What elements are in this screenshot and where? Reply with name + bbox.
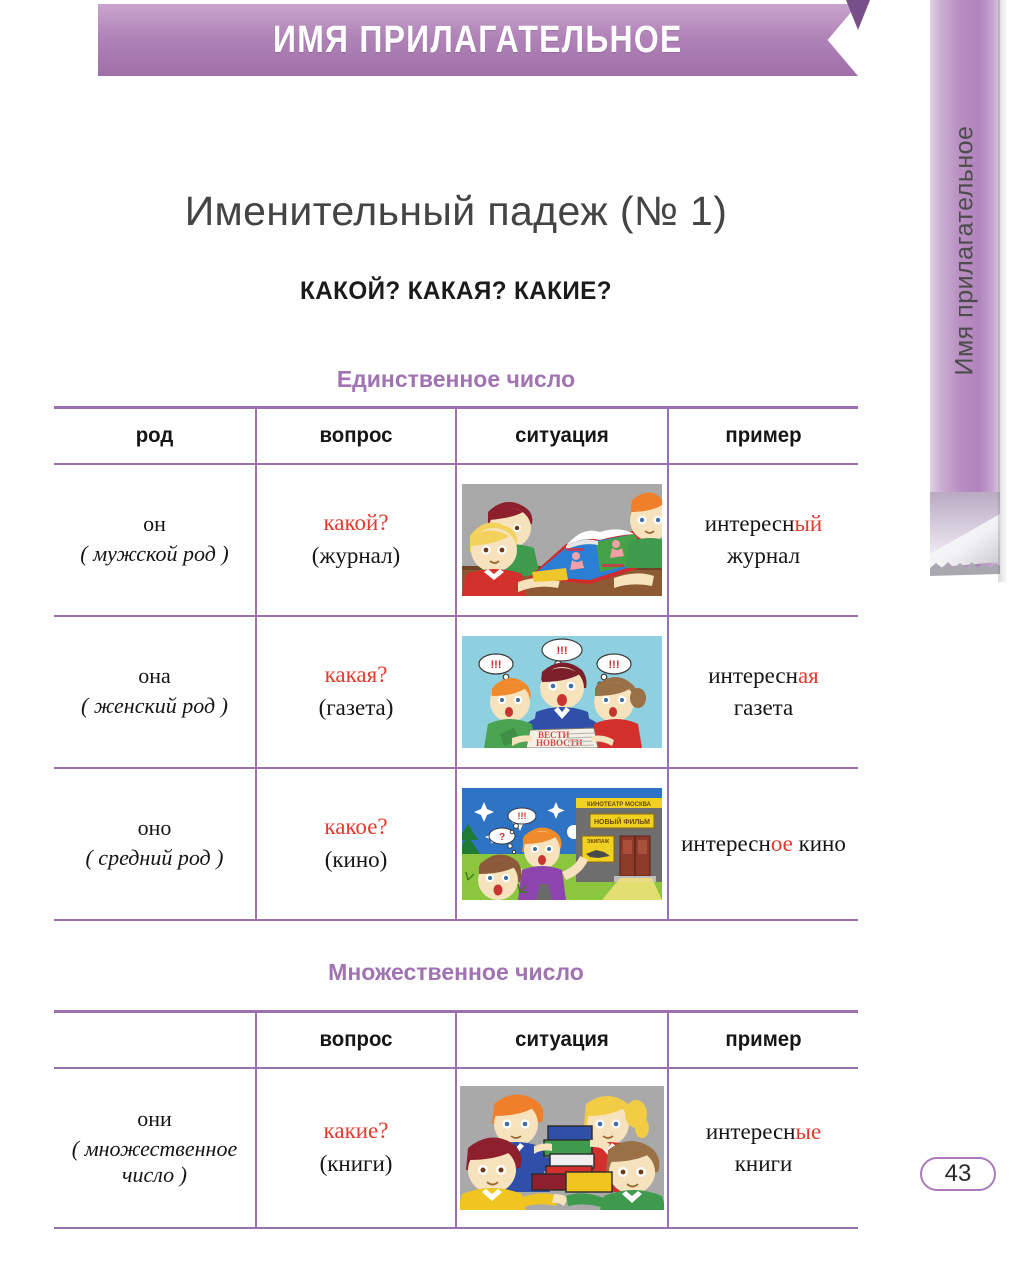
situation-cell xyxy=(456,1068,668,1228)
table-row: она ( женский род ) какая? (газета) xyxy=(54,616,858,768)
question-value: какая? xyxy=(325,662,388,687)
number-note: ( множественное число ) xyxy=(54,1136,255,1188)
singular-label: Единственное число xyxy=(0,366,912,393)
question-cell: какое? (кино) xyxy=(256,768,456,920)
torn-paper-curl-icon xyxy=(930,492,1000,582)
question-noun: (газета) xyxy=(257,695,455,721)
question-noun: (кино) xyxy=(257,847,455,873)
page-number: 43 xyxy=(920,1157,996,1191)
pronoun-value: оно xyxy=(138,815,172,840)
kids-reading-magazine-illustration xyxy=(462,484,662,596)
example-cell: интересные книги xyxy=(668,1068,858,1228)
svg-text:НОВОСТИ: НОВОСТИ xyxy=(536,738,583,748)
banner-ribbon: ИМЯ ПРИЛАГАТЕЛЬНОЕ xyxy=(98,4,858,76)
example-cell: интересная газета xyxy=(668,616,858,768)
questions-subtitle: КАКОЙ? КАКАЯ? КАКИЕ? xyxy=(14,277,899,306)
question-value: какое? xyxy=(324,814,387,839)
svg-text:!!!: !!! xyxy=(557,645,568,657)
question-word: какая? (газета) xyxy=(257,662,455,721)
example-ending: ые xyxy=(796,1119,822,1144)
example-stem: интересн xyxy=(705,511,795,536)
page-banner: ИМЯ ПРИЛАГАТЕЛЬНОЕ xyxy=(0,0,912,96)
example-phrase: интересный журнал xyxy=(669,508,858,570)
question-word: какое? (кино) xyxy=(257,814,455,873)
pronoun-text: она ( женский род ) xyxy=(54,664,255,719)
column-header-example: пример xyxy=(671,408,855,464)
example-stem: интересн xyxy=(681,831,771,856)
example-noun: газета xyxy=(734,695,793,720)
banner-fold-triangle xyxy=(846,0,870,30)
question-noun: (книги) xyxy=(257,1151,455,1177)
question-value: какие? xyxy=(324,1118,389,1143)
example-stem: интересн xyxy=(706,1119,796,1144)
column-header-situation: ситуация xyxy=(459,1012,665,1068)
table-header-row: род вопрос ситуация пример xyxy=(54,408,858,464)
plural-table: вопрос ситуация пример они ( множественн… xyxy=(54,1010,858,1229)
page-number-value: 43 xyxy=(945,1160,972,1188)
example-phrase: интересные книги xyxy=(669,1116,858,1178)
table-row: он ( мужской род ) какой? (журнал) xyxy=(54,464,858,616)
svg-text:ЭКИПАЖ: ЭКИПАЖ xyxy=(587,839,609,845)
plural-label: Множественное число xyxy=(0,959,912,986)
cinema-building-illustration: КИНОТЕАТР МОСКВА НОВЫЙ ФИЛЬМ ЭКИПАЖ xyxy=(462,788,662,900)
column-header-empty xyxy=(57,1012,253,1068)
question-cell: какая? (газета) xyxy=(256,616,456,768)
singular-table: род вопрос ситуация пример он ( мужской … xyxy=(54,406,858,921)
situation-cell: !!! !!! !!! xyxy=(456,616,668,768)
side-tab-label-wrap: Имя прилагательное xyxy=(930,0,1000,500)
pronoun-text: оно ( средний род ) xyxy=(54,816,255,871)
gender-note: ( средний род ) xyxy=(54,845,255,871)
example-noun: кино xyxy=(799,831,846,856)
example-ending: ый xyxy=(794,511,822,536)
pronoun-cell: они ( множественное число ) xyxy=(54,1068,256,1228)
banner-title: ИМЯ ПРИЛАГАТЕЛЬНОЕ xyxy=(273,19,683,62)
gender-cell: она ( женский род ) xyxy=(54,616,256,768)
example-phrase: интересная газета xyxy=(669,660,858,722)
column-header-question: вопрос xyxy=(259,408,453,464)
pronoun-value: они xyxy=(137,1106,172,1131)
example-stem: интересн xyxy=(708,663,798,688)
svg-text:?: ? xyxy=(499,832,505,843)
kids-holding-books-illustration xyxy=(460,1086,664,1210)
example-phrase: интересное кино xyxy=(669,828,858,859)
gender-cell: оно ( средний род ) xyxy=(54,768,256,920)
example-ending: ое xyxy=(771,831,793,856)
pronoun-text: он ( мужской род ) xyxy=(54,512,255,567)
example-ending: ая xyxy=(798,663,819,688)
question-word: какие? (книги) xyxy=(257,1118,455,1177)
kids-surprised-newspaper-illustration: !!! !!! !!! xyxy=(462,636,662,748)
question-value: какой? xyxy=(323,510,388,535)
column-header-example: пример xyxy=(671,1012,855,1068)
side-tab-label: Имя прилагательное xyxy=(951,125,980,375)
gender-note: ( женский род ) xyxy=(54,693,255,719)
question-cell: какие? (книги) xyxy=(256,1068,456,1228)
table-row: оно ( средний род ) какое? (кино) xyxy=(54,768,858,920)
example-noun: журнал xyxy=(727,543,800,568)
table-row: они ( множественное число ) какие? (книг… xyxy=(54,1068,858,1228)
situation-cell: КИНОТЕАТР МОСКВА НОВЫЙ ФИЛЬМ ЭКИПАЖ xyxy=(456,768,668,920)
example-cell: интересный журнал xyxy=(668,464,858,616)
gender-note: ( мужской род ) xyxy=(54,541,255,567)
column-header-situation: ситуация xyxy=(459,408,665,464)
pronoun-text: они ( множественное число ) xyxy=(54,1107,255,1188)
example-cell: интересное кино xyxy=(668,768,858,920)
pronoun-value: она xyxy=(138,663,171,688)
gender-cell: он ( мужской род ) xyxy=(54,464,256,616)
svg-text:!!!: !!! xyxy=(518,811,527,821)
svg-text:НОВЫЙ ФИЛЬМ: НОВЫЙ ФИЛЬМ xyxy=(594,817,650,826)
svg-text:!!!: !!! xyxy=(491,659,502,671)
section-side-tab: Имя прилагательное xyxy=(916,0,1012,582)
page-title: Именительный падеж (№ 1) xyxy=(0,188,912,235)
column-header-gender: род xyxy=(57,408,253,464)
svg-text:КИНОТЕАТР МОСКВА: КИНОТЕАТР МОСКВА xyxy=(587,802,652,808)
svg-text:!!!: !!! xyxy=(609,659,620,671)
question-word: какой? (журнал) xyxy=(257,510,455,569)
table-header-row: вопрос ситуация пример xyxy=(54,1012,858,1068)
pronoun-value: он xyxy=(143,511,166,536)
situation-cell xyxy=(456,464,668,616)
question-cell: какой? (журнал) xyxy=(256,464,456,616)
question-noun: (журнал) xyxy=(257,543,455,569)
example-noun: книги xyxy=(735,1151,793,1176)
column-header-question: вопрос xyxy=(259,1012,453,1068)
page-edge-shadow xyxy=(998,0,1012,582)
